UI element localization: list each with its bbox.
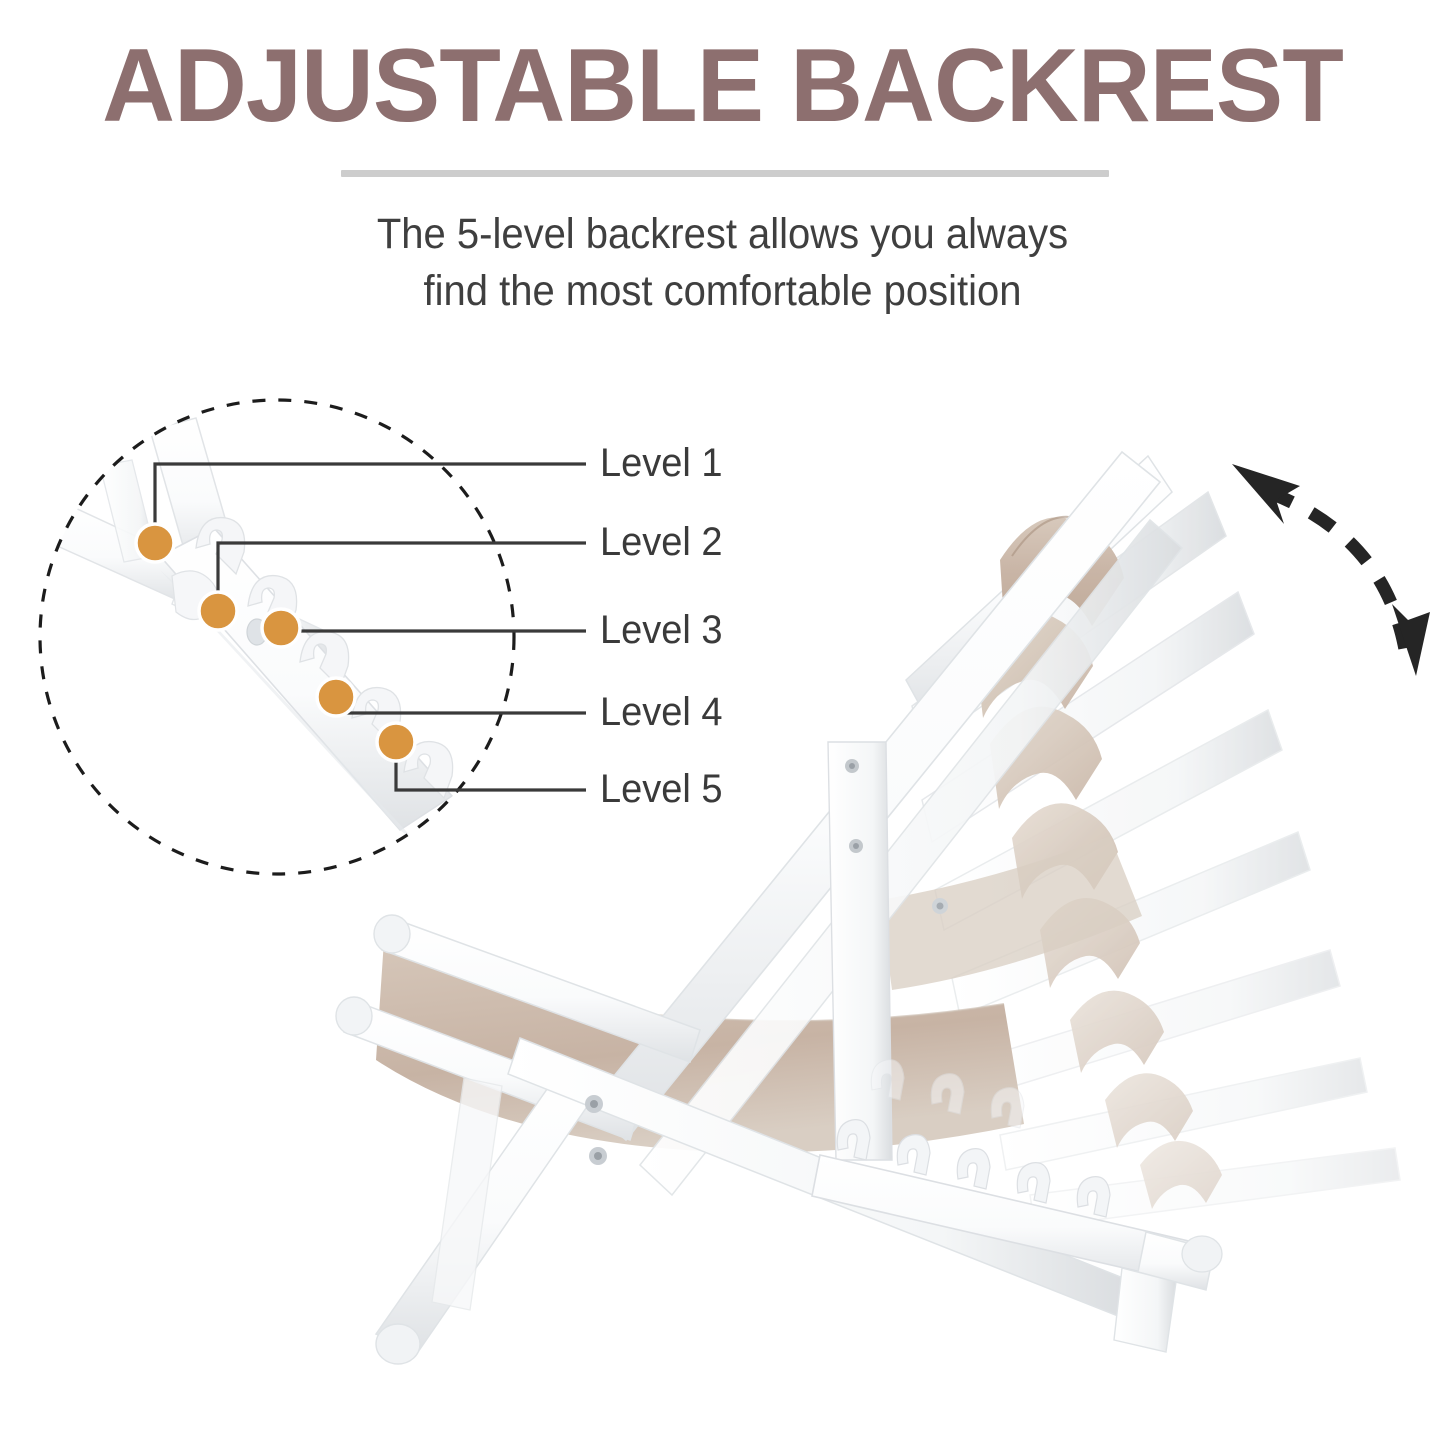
front-leg-foot [376, 1324, 420, 1364]
level-dot-3 [262, 609, 300, 647]
recline-range-arrow [1232, 464, 1430, 676]
level-dot-5 [377, 723, 415, 761]
screw-lower-center [937, 903, 944, 910]
level-dot-4 [317, 678, 355, 716]
infographic-page: ADJUSTABLE BACKREST The 5-level backrest… [0, 0, 1445, 1445]
screw-top-center [849, 763, 855, 769]
rear-leg [1114, 1268, 1176, 1352]
left-arm-rail-cap [336, 997, 372, 1035]
level-label-5: Level 5 [600, 767, 723, 812]
seat-front-rail-cap [374, 915, 410, 953]
arrowhead-up [1232, 464, 1300, 524]
rear-foot-cap [1182, 1236, 1222, 1272]
level-label-1: Level 1 [600, 441, 723, 486]
pivot-screw-upper-center [590, 1100, 598, 1108]
backrest-bracket [828, 742, 892, 1160]
level-dot-1 [136, 524, 174, 562]
level-label-2: Level 2 [600, 520, 723, 565]
level-label-4: Level 4 [600, 690, 723, 735]
level-label-3: Level 3 [600, 608, 723, 653]
pivot-screw-lower-center [594, 1152, 602, 1160]
screw-mid-center [853, 843, 859, 849]
level-dot-2 [199, 592, 237, 630]
